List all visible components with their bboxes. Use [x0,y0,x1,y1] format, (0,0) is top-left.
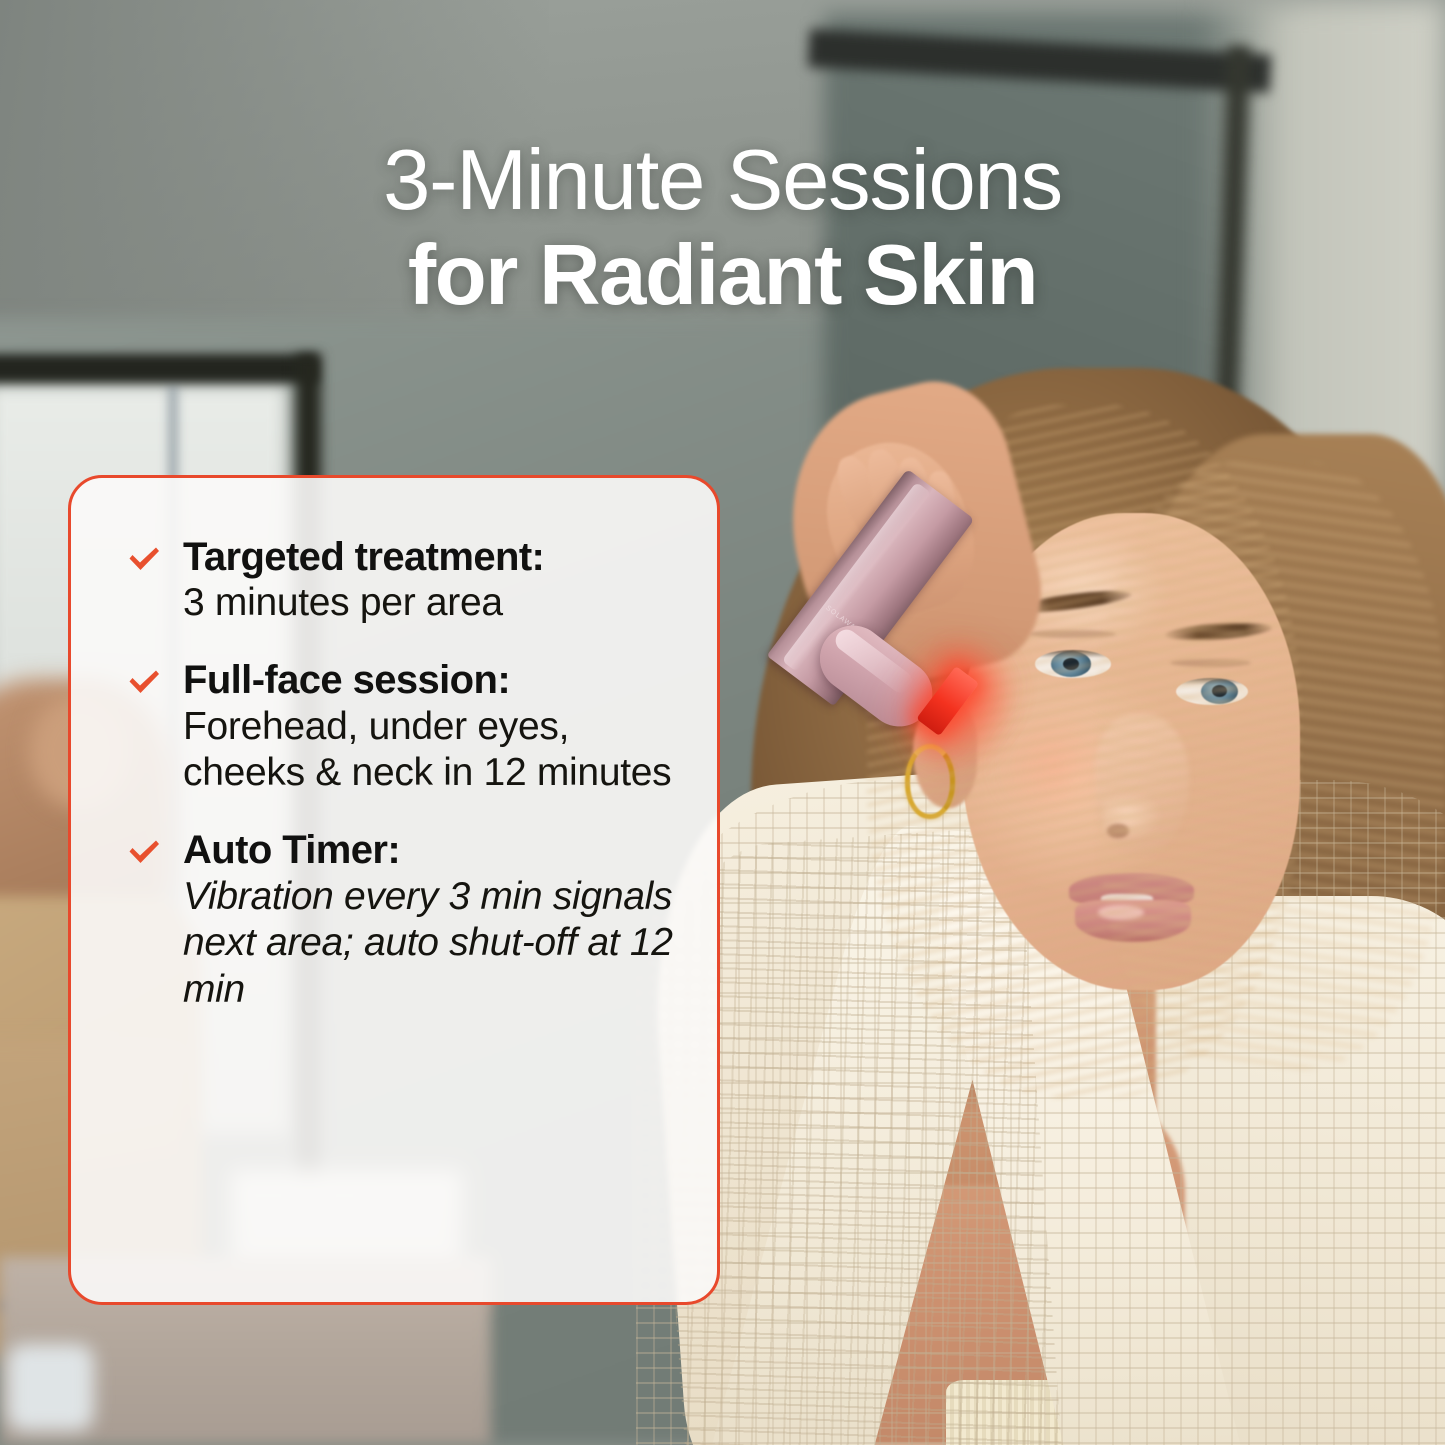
hair-highlights-right [1098,462,1445,1069]
feature-bullet-body: 3 minutes per area [183,580,677,627]
feature-bullet-text: Full-face session: Forehead, under eyes,… [183,657,677,797]
feature-bullet-heading: Auto Timer: [183,827,677,873]
feature-card: Targeted treatment: 3 minutes per area F… [68,475,720,1305]
feature-bullet-heading: Targeted treatment: [183,534,677,580]
feature-bullet: Targeted treatment: 3 minutes per area [127,534,677,627]
feature-bullet-body: Vibration every 3 min signals next area;… [183,874,677,1014]
feature-bullet-text: Targeted treatment: 3 minutes per area [183,534,677,627]
feature-bullet-heading: Full-face session: [183,657,677,703]
feature-bullet-body: Forehead, under eyes, cheeks & neck in 1… [183,704,677,798]
feature-bullet: Auto Timer: Vibration every 3 min signal… [127,827,677,1014]
check-icon [127,839,167,865]
check-icon [127,669,167,695]
feature-bullet: Full-face session: Forehead, under eyes,… [127,657,677,797]
marketing-image: SOLAWAVE 3-Minute Sessions for Radiant S… [0,0,1445,1445]
check-icon [127,546,167,572]
feature-bullet-text: Auto Timer: Vibration every 3 min signal… [183,827,677,1014]
